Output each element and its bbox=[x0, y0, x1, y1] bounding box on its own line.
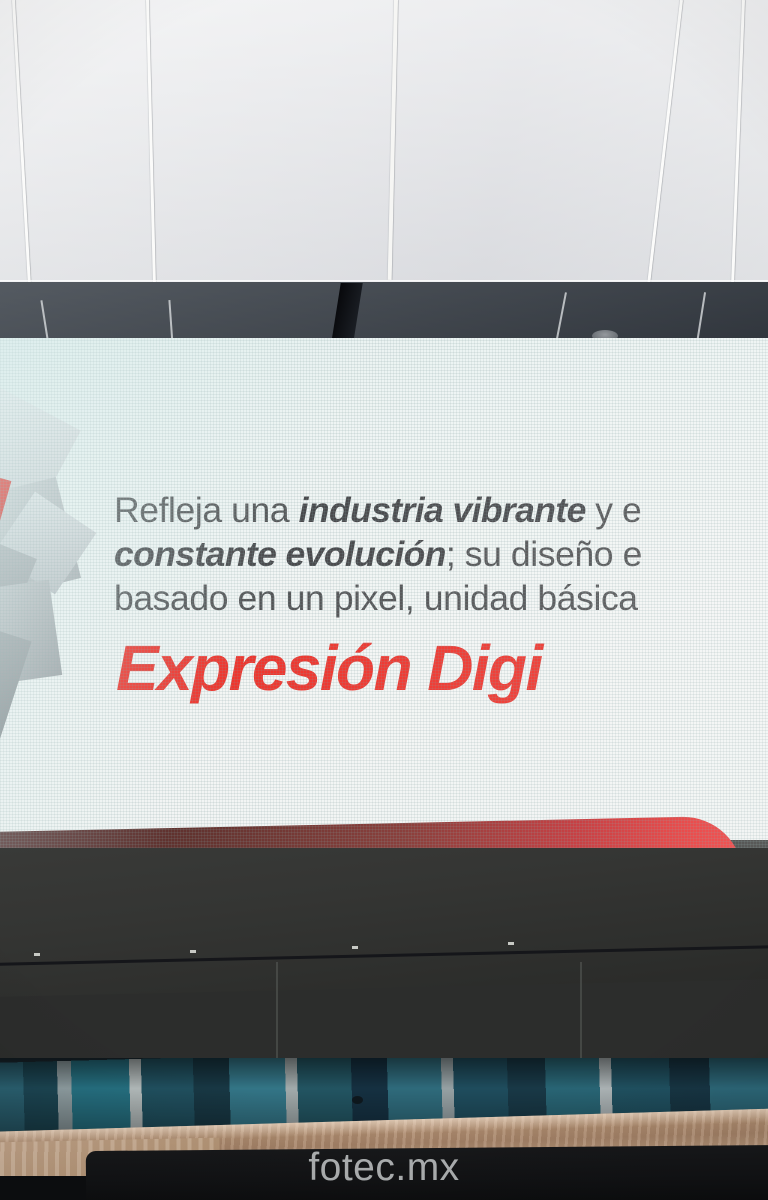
stage-pin-4 bbox=[508, 942, 514, 945]
stage-pin-3 bbox=[352, 946, 358, 949]
watermark-text: fotec.mx bbox=[0, 1146, 768, 1190]
slide-body-line-2: constante evolución; su diseño e bbox=[114, 532, 768, 576]
stage-pin-2 bbox=[190, 950, 196, 953]
stage-base-face bbox=[0, 840, 768, 997]
stage-base bbox=[0, 840, 768, 1080]
led-presentation-screen: Refleja una industria vibrante y e const… bbox=[0, 338, 768, 848]
emphasis-industria-vibrante: industria vibrante bbox=[299, 490, 586, 530]
slide-headline: Expresión Digi bbox=[116, 633, 542, 703]
slide-red-gradient-band bbox=[0, 816, 745, 848]
photo-scene: Refleja una industria vibrante y e const… bbox=[0, 0, 768, 1200]
emphasis-constante-evolucion: constante evolución bbox=[114, 534, 446, 574]
slide-body-text: Refleja una industria vibrante y e const… bbox=[114, 488, 768, 620]
slide-body-line-3: basado en un pixel, unidad básica bbox=[114, 576, 768, 620]
carpet-floor-socket bbox=[352, 1096, 363, 1104]
ceiling-dark-band-shading bbox=[0, 282, 768, 344]
stage-pin-1 bbox=[34, 953, 40, 956]
slide-body-line-1: Refleja una industria vibrante y e bbox=[114, 488, 768, 532]
